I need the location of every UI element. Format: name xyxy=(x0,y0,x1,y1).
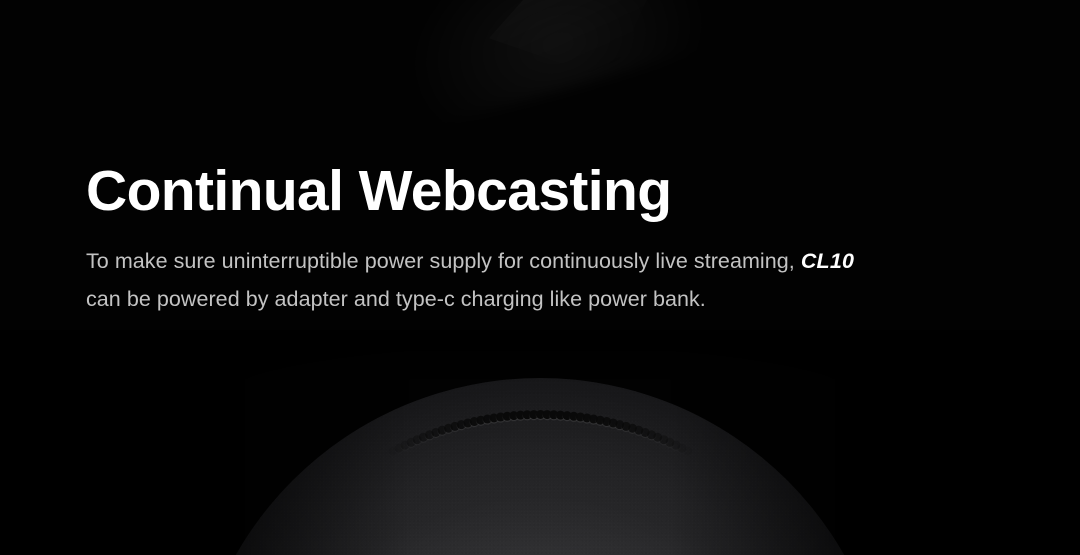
model-name: CL10 xyxy=(801,249,854,273)
description-text: To make sure uninterruptible power suppl… xyxy=(86,242,1006,318)
description-line2: can be powered by adapter and type-c cha… xyxy=(86,287,706,311)
page-title: Continual Webcasting xyxy=(86,160,1006,222)
top-reflection-glare xyxy=(385,0,715,128)
top-reflection-shard xyxy=(470,0,660,80)
device-perforation-ring xyxy=(190,378,890,555)
product-image xyxy=(0,330,1080,555)
promo-banner: Continual Webcasting To make sure uninte… xyxy=(0,0,1080,555)
description-line1: To make sure uninterruptible power suppl… xyxy=(86,249,795,273)
copy-block: Continual Webcasting To make sure uninte… xyxy=(86,160,1006,318)
